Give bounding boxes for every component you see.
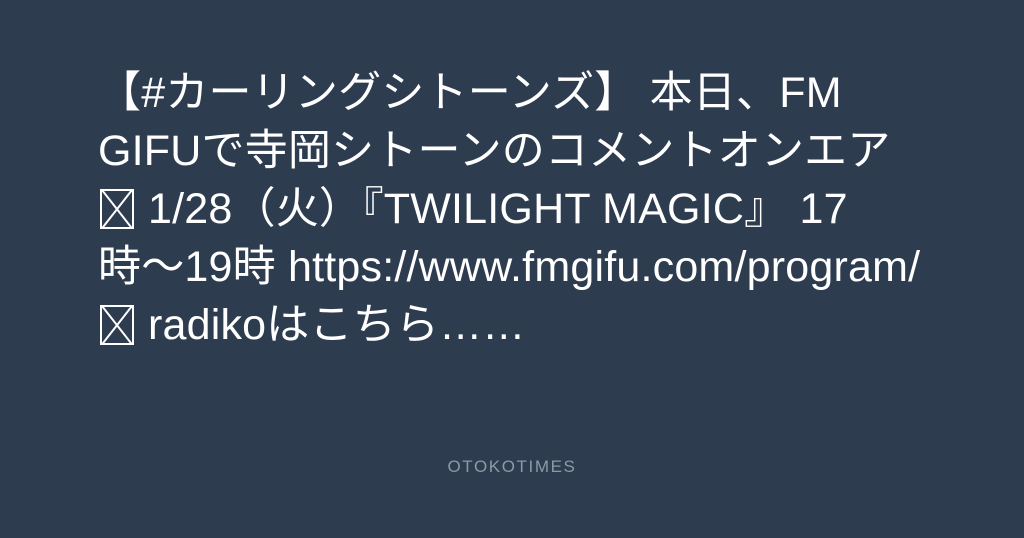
headline-segment-1: 【#カーリングシトーンズ】 本日、FM GIFUで寺岡シトーンのコメントオンエア bbox=[98, 69, 891, 175]
headline-text: 【#カーリングシトーンズ】 本日、FM GIFUで寺岡シトーンのコメントオンエア… bbox=[98, 64, 928, 354]
site-watermark: OTOKOTIMES bbox=[0, 455, 1024, 479]
missing-glyph-icon bbox=[100, 189, 134, 229]
headline-segment-2: 1/28（火）『TWILIGHT MAGIC』 17時〜19時 https://… bbox=[98, 185, 932, 291]
missing-glyph-icon bbox=[100, 305, 134, 345]
article-preview-card: 【#カーリングシトーンズ】 本日、FM GIFUで寺岡シトーンのコメントオンエア… bbox=[0, 0, 1024, 538]
headline-segment-3: radikoはこちら…… bbox=[136, 301, 526, 349]
